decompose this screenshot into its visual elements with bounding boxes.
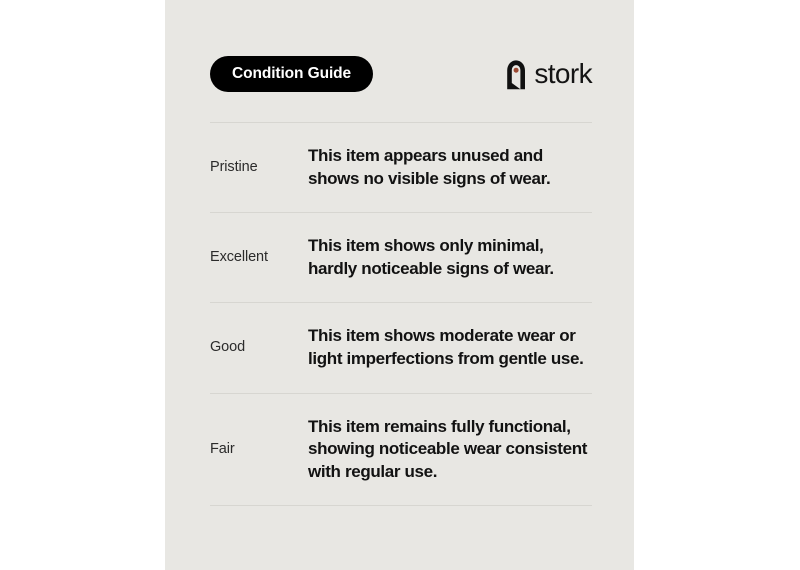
stork-arch-logo-icon <box>504 58 528 90</box>
condition-description: This item appears unused and shows no vi… <box>308 123 592 212</box>
table-row: Good This item shows moderate wear or li… <box>210 303 592 392</box>
condition-description: This item shows only minimal, hardly not… <box>308 213 592 302</box>
page-root: Condition Guide stork Pristine This item… <box>0 0 800 570</box>
condition-description: This item remains fully functional, show… <box>308 394 592 506</box>
condition-label: Excellent <box>210 249 308 266</box>
condition-label: Good <box>210 339 308 356</box>
table-row: Pristine This item appears unused and sh… <box>210 123 592 212</box>
card-header: Condition Guide stork <box>210 56 592 92</box>
condition-guide-pill[interactable]: Condition Guide <box>210 56 373 92</box>
condition-guide-card: Condition Guide stork Pristine This item… <box>165 0 634 570</box>
brand-name: stork <box>534 60 592 88</box>
condition-description: This item shows moderate wear or light i… <box>308 303 592 392</box>
condition-label: Pristine <box>210 159 308 176</box>
condition-rows: Pristine This item appears unused and sh… <box>210 122 592 506</box>
condition-label: Fair <box>210 441 308 458</box>
table-row: Excellent This item shows only minimal, … <box>210 213 592 302</box>
brand-logo: stork <box>504 58 592 90</box>
row-divider <box>210 505 592 506</box>
table-row: Fair This item remains fully functional,… <box>210 394 592 506</box>
